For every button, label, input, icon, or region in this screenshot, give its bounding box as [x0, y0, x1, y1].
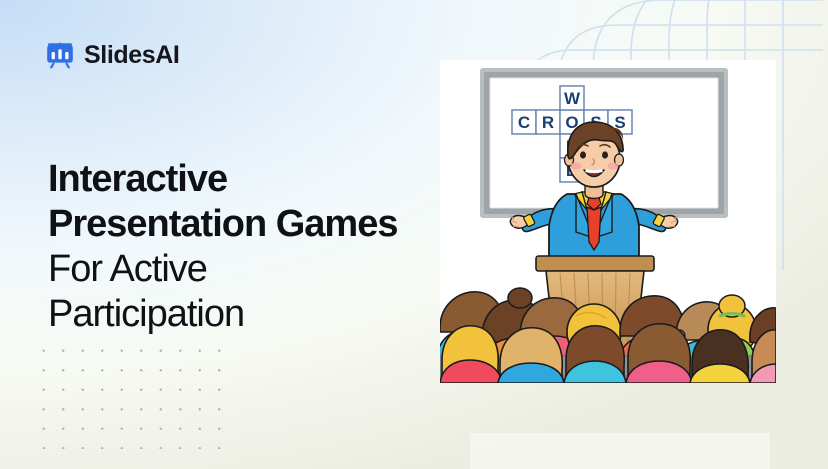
- presentation-board-bar-chart-icon: [45, 40, 75, 70]
- dot-grid-pattern: [34, 341, 230, 449]
- svg-text:C: C: [518, 113, 530, 132]
- headline-bold-part: Interactive Presentation Games: [48, 158, 397, 245]
- brand-logo[interactable]: SlidesAI: [45, 40, 179, 70]
- page-title: Interactive Presentation Games For Activ…: [48, 157, 408, 337]
- headline-regular-part: For Active Participation: [48, 248, 244, 335]
- pale-panel: [470, 433, 770, 469]
- classroom-presenter-crossword-illustration: C R O S S W R D: [424, 60, 776, 383]
- svg-text:W: W: [564, 89, 581, 108]
- banner-canvas: SlidesAI Interactive Presentation Games …: [0, 0, 828, 469]
- svg-text:R: R: [542, 113, 554, 132]
- brand-name: SlidesAI: [84, 43, 179, 68]
